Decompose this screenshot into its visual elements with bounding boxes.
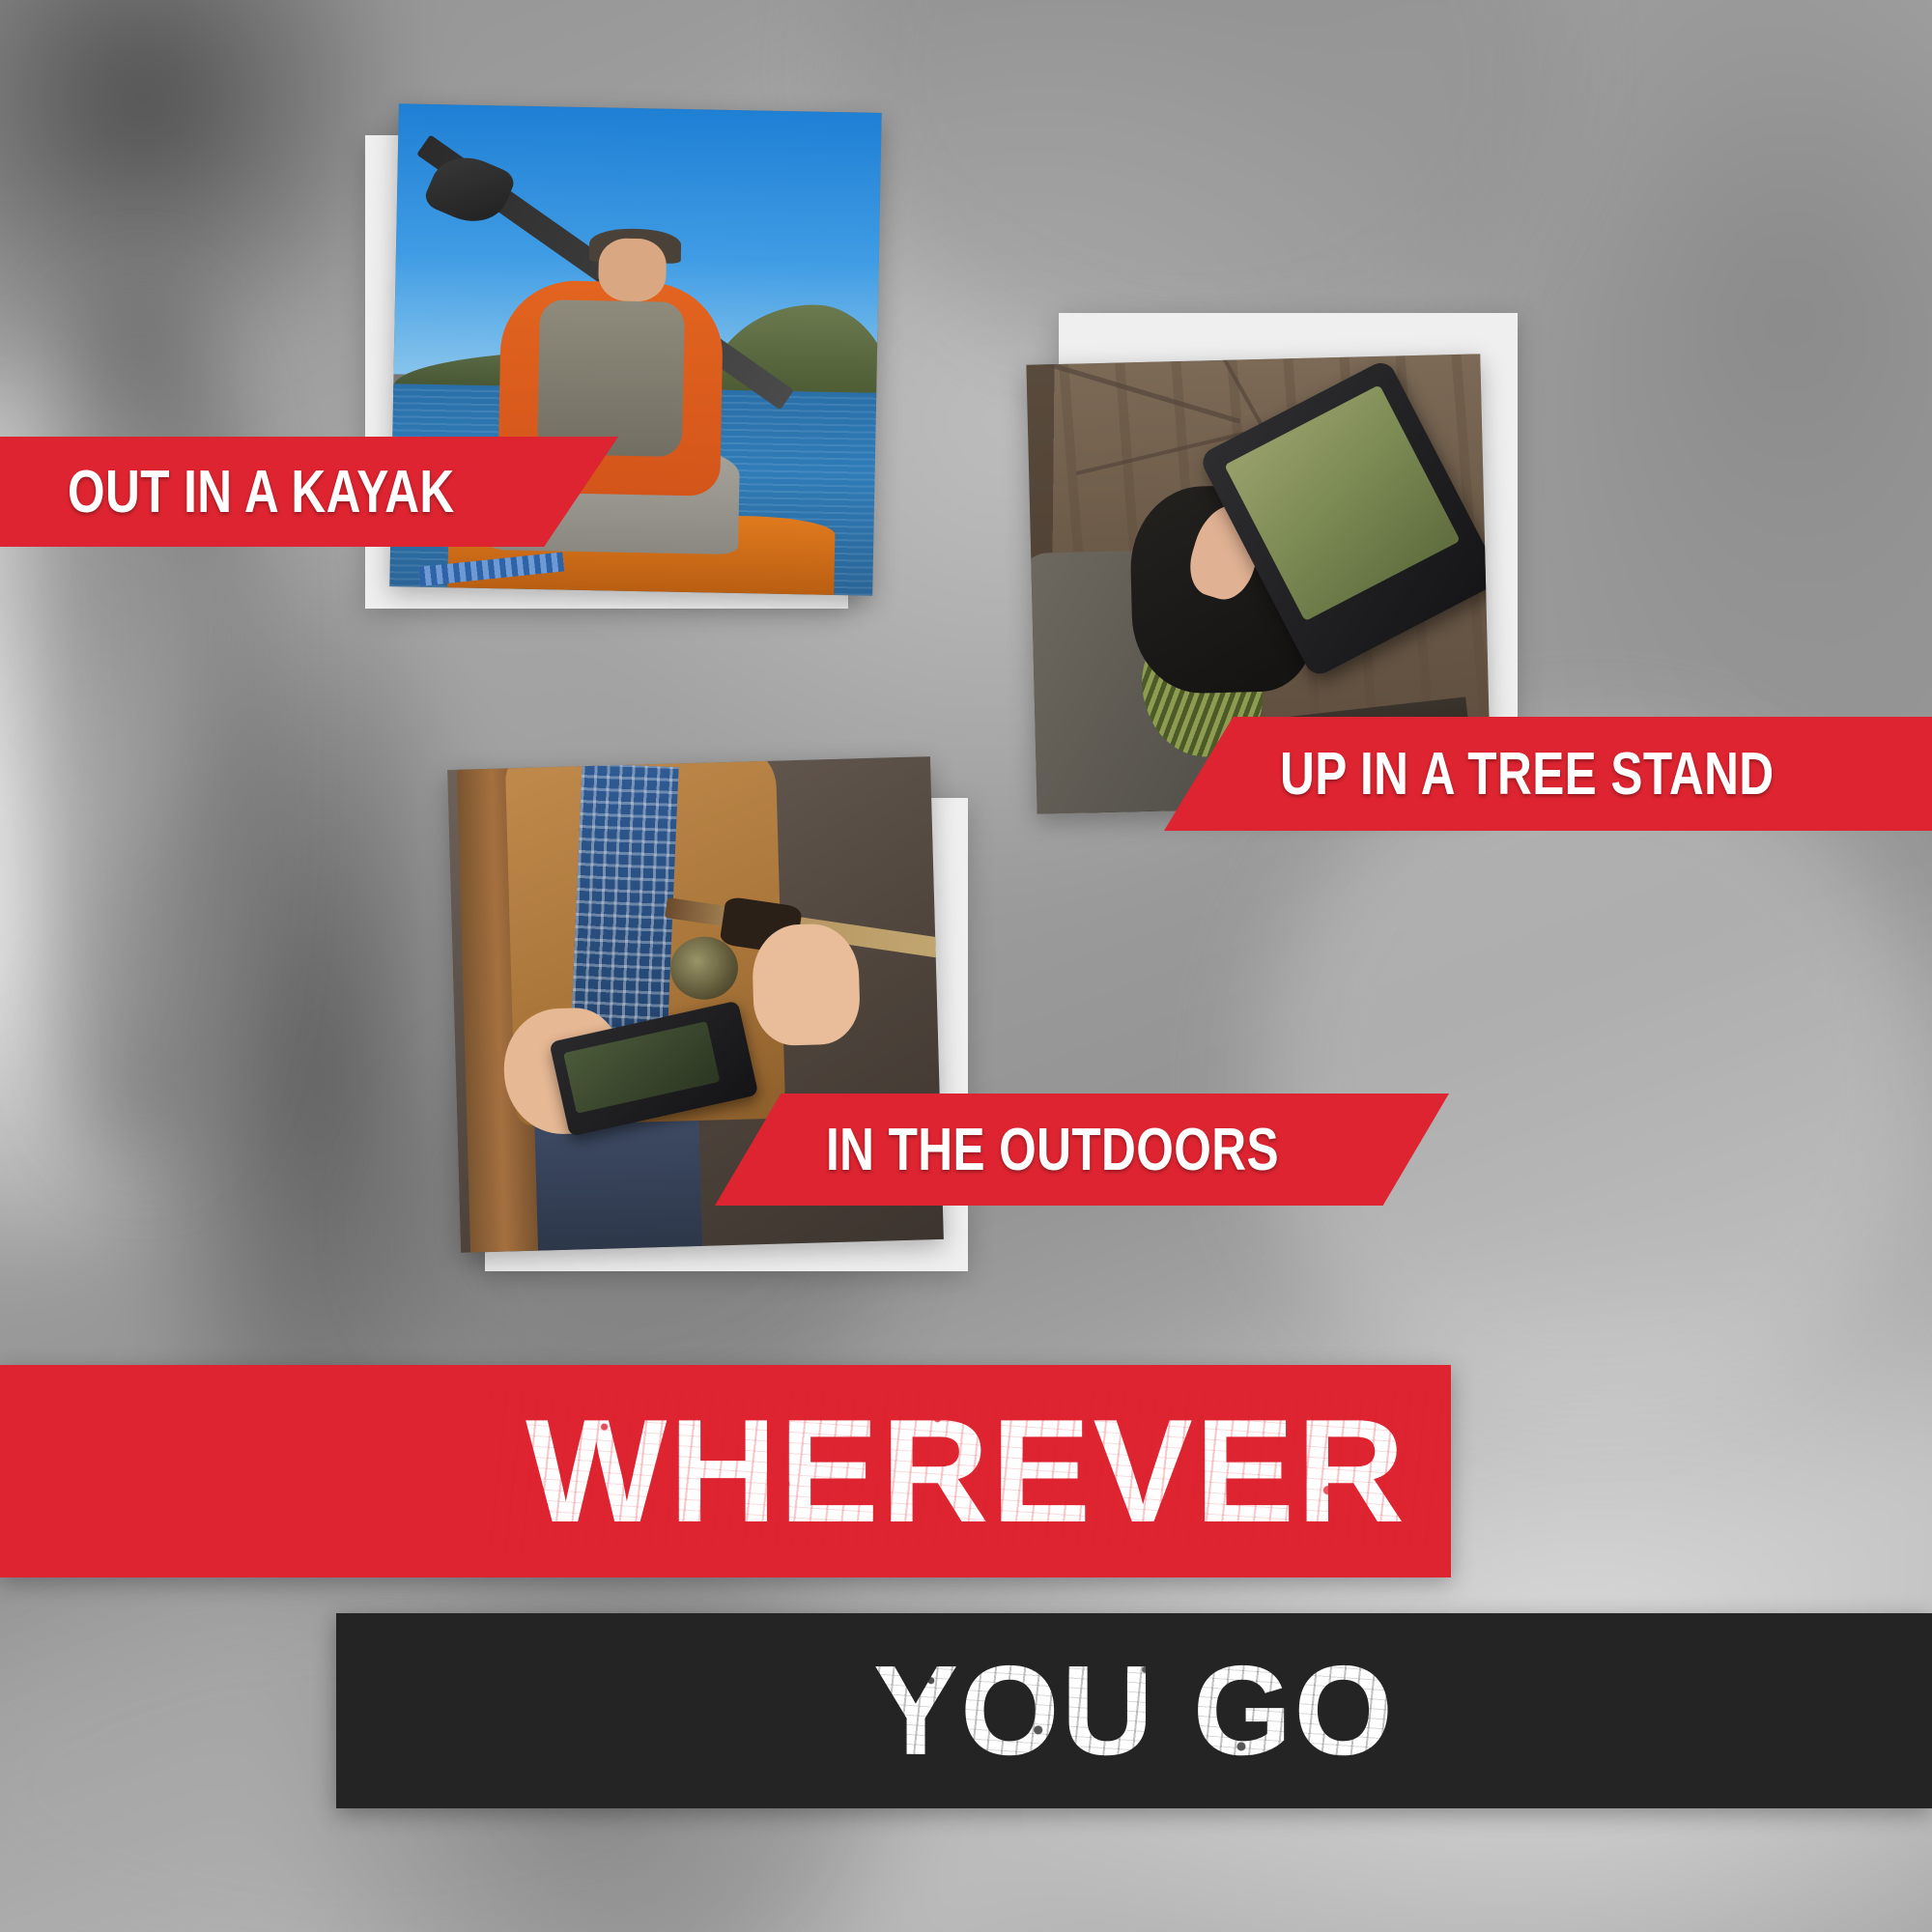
banner-label-kayak: OUT IN A KAYAK xyxy=(68,458,455,526)
phone-screen xyxy=(563,1021,720,1114)
banner-in-the-outdoors: IN THE OUTDOORS xyxy=(715,1094,1449,1206)
headline-line-1-wrap: WHEREVER xyxy=(0,1365,1932,1577)
banner-label-outdoors: IN THE OUTDOORS xyxy=(826,1116,1279,1184)
headline-line-1: WHEREVER xyxy=(526,1398,1406,1545)
headline-line-2: YOU GO xyxy=(873,1647,1395,1775)
background-blob xyxy=(29,290,251,1159)
plaid-shirt xyxy=(571,763,678,1033)
angler-head xyxy=(598,238,667,301)
jeans xyxy=(534,1121,702,1251)
headline-line-2-wrap: YOU GO xyxy=(336,1613,1932,1808)
background-blob xyxy=(831,0,1565,367)
banner-label-tree-stand: UP IN A TREE STAND xyxy=(1280,740,1775,809)
banner-up-in-a-tree-stand: UP IN A TREE STAND xyxy=(1164,717,1932,831)
poster-canvas: OUT IN A KAYAK UP IN A TREE STAND IN THE… xyxy=(0,0,1932,1932)
banner-out-in-a-kayak: OUT IN A KAYAK xyxy=(0,437,618,547)
life-vest xyxy=(537,299,685,457)
photo-card-fly-fishing xyxy=(454,763,995,1285)
right-hand xyxy=(752,923,861,1046)
